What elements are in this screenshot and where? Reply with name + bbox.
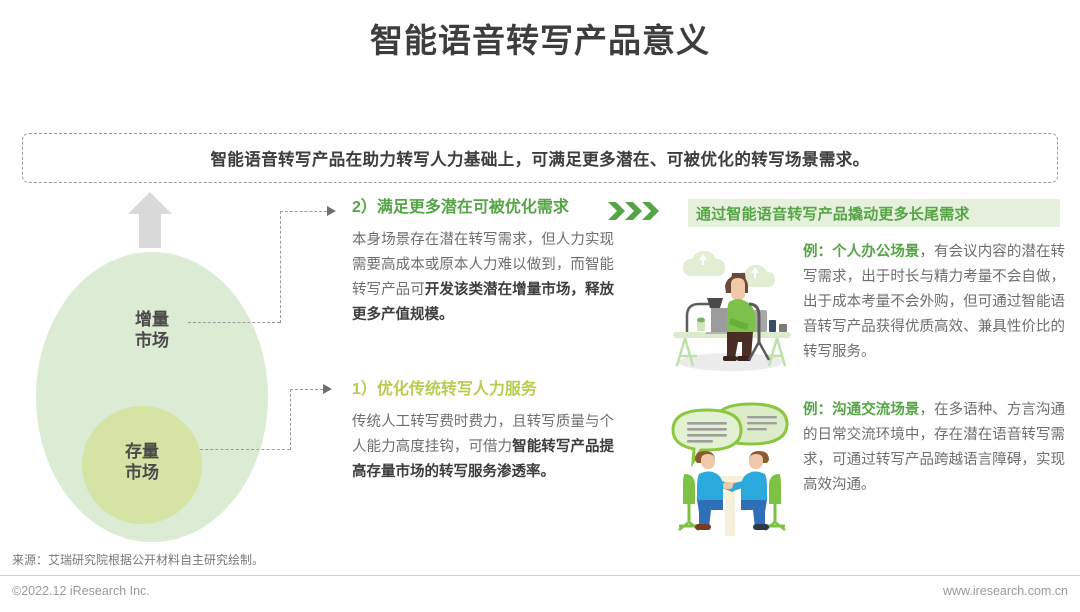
right-panel-header-text: 通过智能语音转写产品撬动更多长尾需求 xyxy=(696,203,970,224)
inner-circle-label-line1: 存量 xyxy=(82,442,202,463)
summary-banner: 智能语音转写产品在助力转写人力基础上，可满足更多潜在、可被优化的转写场景需求。 xyxy=(22,133,1058,183)
chevron-triple-right-icon xyxy=(608,200,678,222)
right-row-2-highlight: 沟通交流场景 xyxy=(832,402,919,418)
middle-block-2-heading-text: 满足更多潜在可被优化需求 xyxy=(377,199,569,216)
inner-circle-label-line2: 市场 xyxy=(82,463,202,484)
middle-block-1-body: 传统人工转写费时费力，且转写质量与个人能力高度挂钩，可借力智能转写产品提高存量市… xyxy=(352,410,614,485)
inner-circle-label: 存量 市场 xyxy=(82,442,202,483)
up-arrow-icon xyxy=(128,192,172,248)
outer-circle-label: 增量 市场 xyxy=(92,310,212,351)
website-url: www.iresearch.com.cn xyxy=(943,584,1068,598)
outer-circle-label-line1: 增量 xyxy=(92,310,212,331)
right-row-communication-scenario: 例：沟通交流场景，在多语种、方言沟通的日常交流环境中，存在潜在语音转写需求，可通… xyxy=(665,398,1065,551)
right-row-office-scenario: 例：个人办公场景，有会议内容的潜在转写需求，出于时长与精力考量不会自做，出于成本… xyxy=(665,240,1065,385)
right-panel-header: 通过智能语音转写产品撬动更多长尾需求 xyxy=(688,199,1060,227)
right-row-1-highlight: 个人办公场景 xyxy=(832,244,919,260)
right-row-2-text: 例：沟通交流场景，在多语种、方言沟通的日常交流环境中，存在潜在语音转写需求，可通… xyxy=(800,398,1065,551)
middle-block-2: 2）满足更多潜在可被优化需求 本身场景存在潜在转写需求，但人力实现需要高成本或原… xyxy=(352,198,614,328)
middle-block-2-body: 本身场景存在潜在转写需求，但人力实现需要高成本或原本人力难以做到，而智能转写产品… xyxy=(352,228,614,328)
right-row-2-label: 例： xyxy=(803,402,832,418)
venn-diagram: 增量 市场 存量 市场 xyxy=(18,192,268,542)
summary-banner-text: 智能语音转写产品在助力转写人力基础上，可满足更多潜在、可被优化的转写场景需求。 xyxy=(210,146,869,170)
middle-block-1-index: 1） xyxy=(352,381,377,398)
right-row-1-text: 例：个人办公场景，有会议内容的潜在转写需求，出于时长与精力考量不会自做，出于成本… xyxy=(800,240,1065,385)
middle-block-2-index: 2） xyxy=(352,199,377,216)
source-note: 来源：艾瑞研究院根据公开材料自主研究绘制。 xyxy=(12,551,264,568)
two-people-talking-illustration xyxy=(665,398,800,551)
page-title: 智能语音转写产品意义 xyxy=(0,14,1080,62)
outer-circle-label-line2: 市场 xyxy=(92,331,212,352)
footer-divider xyxy=(0,575,1080,576)
middle-block-2-heading: 2）满足更多潜在可被优化需求 xyxy=(352,198,614,219)
copyright-text: ©2022.12 iResearch Inc. xyxy=(12,584,150,598)
person-at-desk-illustration xyxy=(665,240,800,385)
right-row-1-body: ，有会议内容的潜在转写需求，出于时长与精力考量不会自做，出于成本考量不会外购，但… xyxy=(803,244,1065,360)
slide-root: 智能语音转写产品意义 智能语音转写产品在助力转写人力基础上，可满足更多潜在、可被… xyxy=(0,0,1080,612)
right-row-1-label: 例： xyxy=(803,244,832,260)
middle-block-1: 1）优化传统转写人力服务 传统人工转写费时费力，且转写质量与个人能力高度挂钩，可… xyxy=(352,380,614,485)
middle-block-1-heading: 1）优化传统转写人力服务 xyxy=(352,380,614,401)
middle-block-1-heading-text: 优化传统转写人力服务 xyxy=(377,381,537,398)
